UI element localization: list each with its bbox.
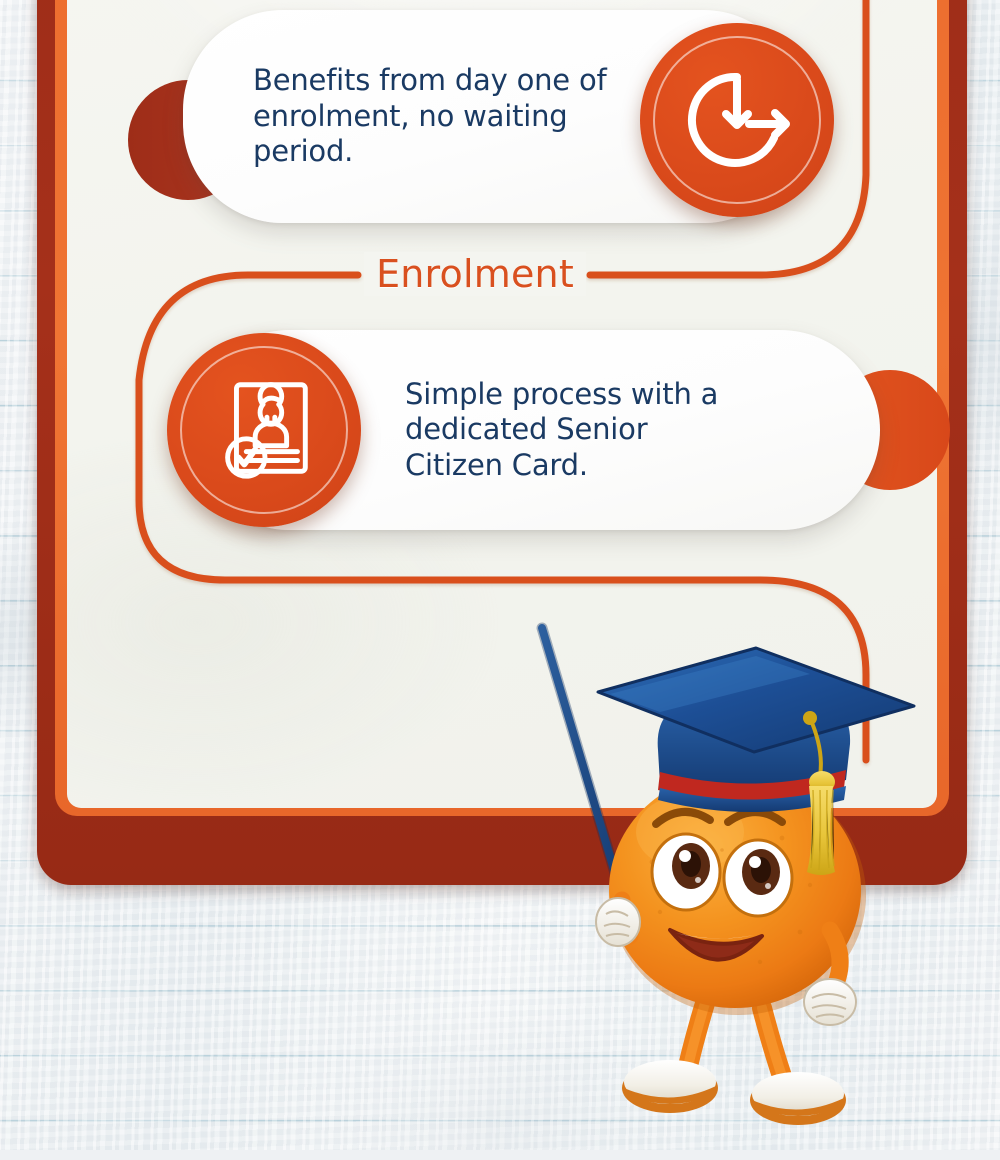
clock-arrow-icon xyxy=(640,23,834,217)
id-card-check-icon xyxy=(167,333,361,527)
section-label: Enrolment xyxy=(360,248,590,300)
orange-graduate-mascot xyxy=(510,600,1000,1160)
card-text: Benefits from day one of enrolment, no w… xyxy=(253,63,607,169)
card-simple-process[interactable]: Simple process with a dedicated Senior C… xyxy=(130,325,890,535)
mascot-shoes xyxy=(622,1060,846,1125)
section-label-text: Enrolment xyxy=(364,252,586,296)
card-text: Simple process with a dedicated Senior C… xyxy=(405,377,718,483)
card-benefits-day-one[interactable]: Benefits from day one of enrolment, no w… xyxy=(128,10,858,235)
